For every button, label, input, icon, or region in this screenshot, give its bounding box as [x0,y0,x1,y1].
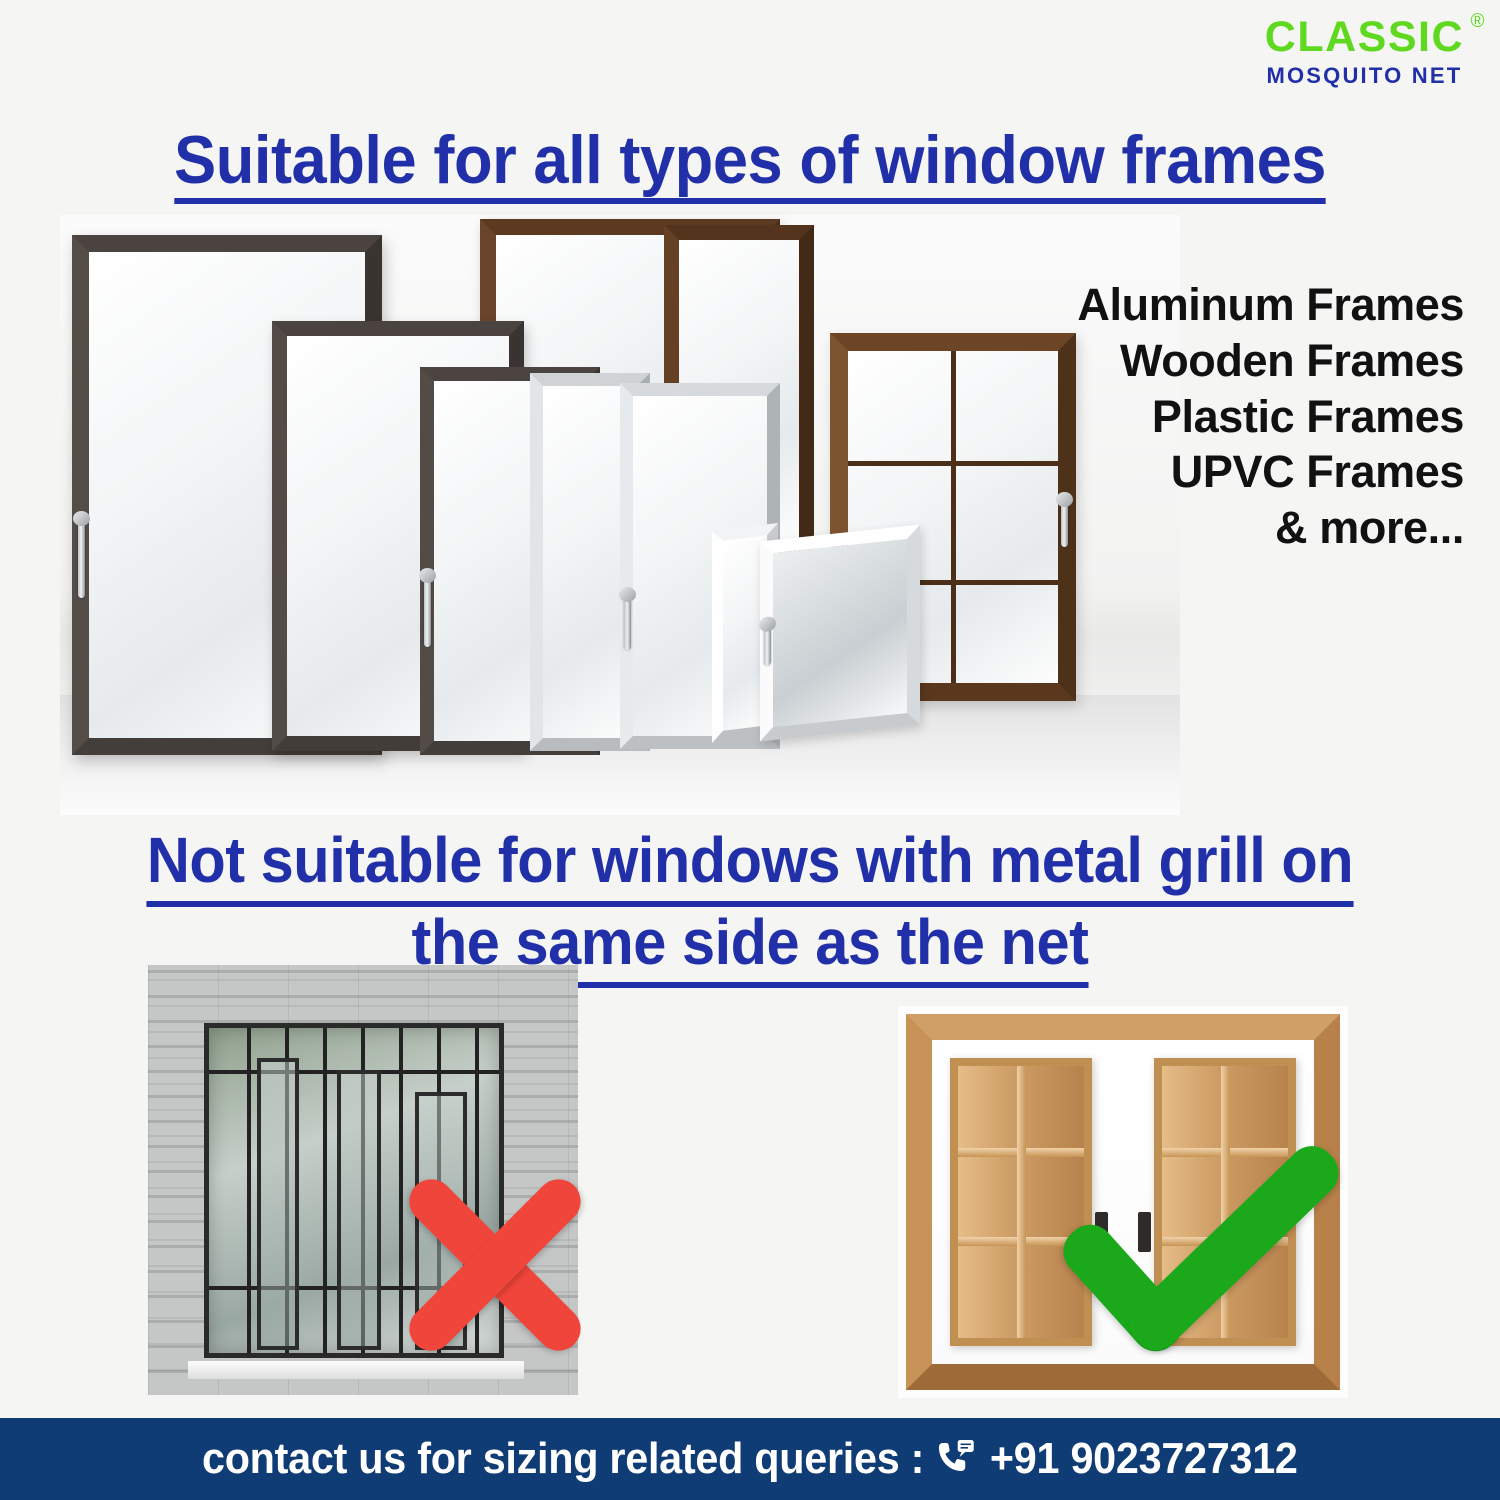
window-handle-icon [78,520,85,598]
window-handle-icon [624,596,631,650]
red-x-mark-icon [380,1150,610,1380]
window-handle-icon [764,625,771,666]
headline-primary-text: Suitable for all types of window frames [174,126,1326,204]
contact-footer-bar: contact us for sizing related queries : … [0,1418,1500,1500]
frame-type-item: UPVC Frames [1077,444,1464,500]
brand-logo: CLASSIC® MOSQUITO NET [1265,16,1464,87]
headline-primary: Suitable for all types of window frames [53,126,1448,204]
brand-name: CLASSIC® [1265,16,1464,59]
contact-phone-number[interactable]: +91 9023727312 [990,1434,1298,1484]
contact-line: contact us for sizing related queries : … [202,1434,1298,1484]
window-white-upvc-tilt [760,525,920,742]
frame-type-item: Plastic Frames [1077,389,1464,445]
frame-type-item: & more... [1077,500,1464,556]
headline-secondary: Not suitable for windows with metal gril… [53,825,1448,988]
poster-canvas: CLASSIC® MOSQUITO NET Suitable for all t… [0,0,1500,1500]
headline-secondary-line1: Not suitable for windows with metal gril… [147,825,1353,907]
phone-call-icon [936,1439,975,1479]
frame-types-list: Aluminum Frames Wooden Frames Plastic Fr… [1077,277,1464,556]
frame-type-item: Wooden Frames [1077,333,1464,389]
registered-trademark-icon: ® [1471,12,1487,31]
brand-tagline: MOSQUITO NET [1265,65,1464,87]
window-handle-icon [424,577,431,647]
frame-type-item: Aluminum Frames [1077,277,1464,333]
contact-label: contact us for sizing related queries : [202,1434,924,1484]
green-check-mark-icon [1040,1140,1330,1390]
window-frames-photo [60,215,1180,815]
window-handle-icon [1061,501,1068,547]
